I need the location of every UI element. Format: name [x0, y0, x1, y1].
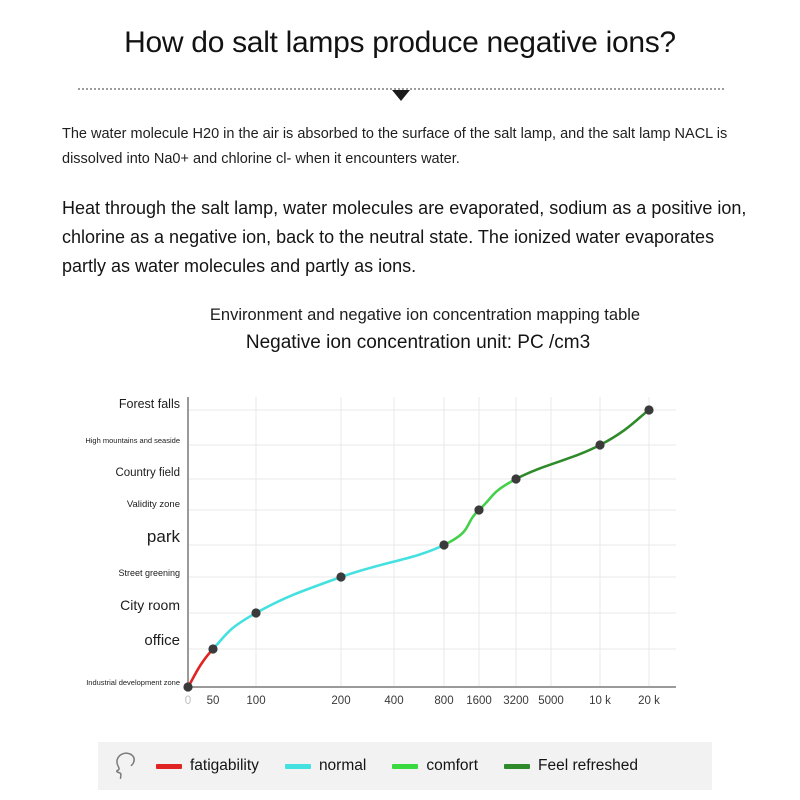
legend-label: fatigability: [190, 757, 259, 775]
head-profile-icon: [98, 749, 152, 783]
legend-item[interactable]: normal: [285, 757, 366, 775]
y-axis-label: Industrial development zone: [85, 679, 180, 687]
y-axis-label: Country field: [85, 467, 180, 480]
y-axis-label: Forest falls: [85, 397, 180, 411]
x-axis-label: 10 k: [575, 695, 625, 707]
legend-label: Feel refreshed: [538, 757, 638, 775]
chart-axes: [188, 397, 676, 687]
chart-container: Industrial development zoneofficeCity ro…: [0, 385, 800, 725]
x-axis-label: 100: [231, 695, 281, 707]
legend-item-list: fatigabilitynormalcomfortFeel refreshed: [152, 757, 712, 775]
legend-color-swatch: [392, 764, 418, 769]
legend-color-swatch: [285, 764, 311, 769]
x-axis-label: 400: [369, 695, 419, 707]
chart-legend: fatigabilitynormalcomfortFeel refreshed: [98, 742, 712, 790]
y-axis-label: office: [85, 633, 180, 650]
legend-item[interactable]: fatigability: [156, 757, 259, 775]
y-axis-label: High mountains and seaside: [85, 437, 180, 445]
x-axis-label: 20 k: [624, 695, 674, 707]
legend-label: comfort: [426, 757, 478, 775]
caret-down-icon: [392, 90, 410, 101]
chart-heading-secondary: Negative ion concentration unit: PC /cm3: [0, 332, 800, 354]
paragraph-first: The water molecule H20 in the air is abs…: [62, 122, 752, 172]
chart-heading-primary: Environment and negative ion concentrati…: [0, 306, 800, 325]
page-title: How do salt lamps produce negative ions?: [0, 26, 800, 60]
paragraph-second: Heat through the salt lamp, water molecu…: [62, 194, 752, 281]
y-axis-label: Street greening: [85, 568, 180, 578]
chart-gridlines: [188, 397, 676, 687]
legend-label: normal: [319, 757, 366, 775]
y-axis-label: Validity zone: [85, 500, 180, 511]
legend-item[interactable]: Feel refreshed: [504, 757, 638, 775]
y-axis-label: City room: [85, 598, 180, 614]
y-axis-label: park: [85, 527, 180, 546]
chart-line-segments: [188, 410, 649, 687]
legend-color-swatch: [504, 764, 530, 769]
title-divider: [78, 88, 724, 110]
legend-item[interactable]: comfort: [392, 757, 478, 775]
x-axis-label: 5000: [526, 695, 576, 707]
page-root: How do salt lamps produce negative ions?…: [0, 0, 800, 800]
legend-color-swatch: [156, 764, 182, 769]
x-axis-label: 200: [316, 695, 366, 707]
